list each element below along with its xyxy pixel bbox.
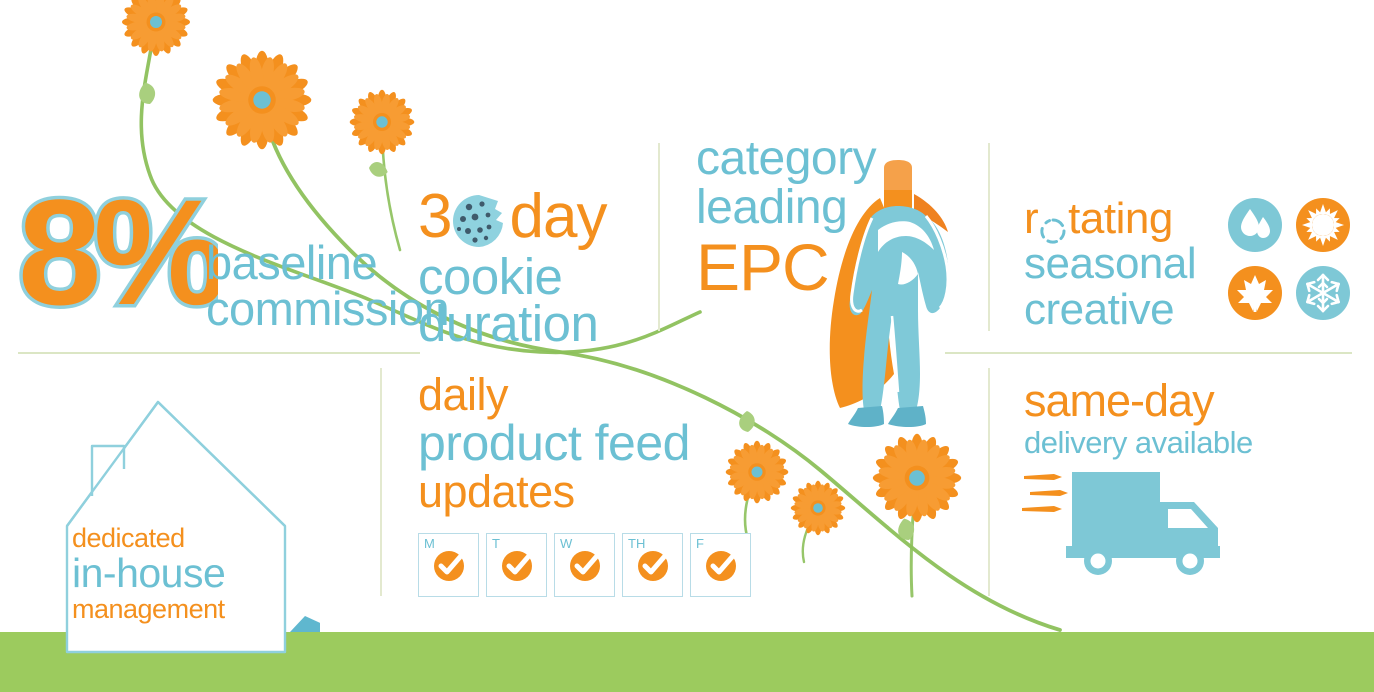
check-icon (704, 549, 738, 583)
management-line-2: in-house (72, 552, 292, 595)
leaf-icon (1228, 266, 1282, 320)
delivery-stat-block: same-day delivery available (1024, 378, 1253, 461)
water-drop-icon (1228, 198, 1282, 252)
cookie-prefix: 3 (418, 186, 451, 248)
divider-vertical-delivery-left (988, 368, 990, 596)
seasonal-line-1: r tating (1024, 196, 1196, 241)
feed-stat-block: daily product feed updates (418, 372, 690, 516)
feed-line-3: updates (418, 469, 690, 516)
divider-vertical-epc-left (658, 143, 660, 331)
cookie-icon (451, 193, 507, 249)
cookie-suffix: day (509, 186, 606, 248)
weekday-card-thursday[interactable]: TH (622, 533, 683, 597)
commission-value: 8% 8% (18, 186, 218, 336)
delivery-truck-icon (1018, 466, 1246, 576)
check-icon (636, 549, 670, 583)
commission-line-1: baseline (206, 240, 449, 286)
feed-line-2: product feed (418, 418, 690, 469)
management-line-3: management (72, 595, 292, 624)
seasonal-stat-block: r tating seasonal creative (1024, 196, 1196, 333)
divider-vertical-feed-left (380, 368, 382, 596)
weekday-card-monday[interactable]: M (418, 533, 479, 597)
management-line-1: dedicated (72, 524, 292, 552)
divider-vertical-epc-right (988, 143, 990, 331)
feed-line-1: daily (418, 372, 690, 418)
delivery-line-2: delivery available (1024, 424, 1253, 461)
commission-value-fill: 8% (18, 186, 218, 336)
divider-horizontal-right (945, 352, 1352, 354)
commission-stat-block: 8% 8% baseline commission (18, 186, 218, 341)
weekday-card-row: M T W (418, 533, 751, 597)
rotating-circle-icon (1039, 208, 1067, 236)
divider-horizontal-left (18, 352, 420, 354)
cookie-line-2: duration (418, 301, 606, 348)
check-icon (432, 549, 466, 583)
infographic-canvas: dedicated in-house management 8% 8% base… (0, 0, 1374, 692)
cookie-stat-block: 3 (418, 186, 606, 348)
check-icon (568, 549, 602, 583)
seasonal-line-2: seasonal (1024, 241, 1196, 287)
check-icon (500, 549, 534, 583)
snowflake-icon (1296, 266, 1350, 320)
commission-line-2: commission (206, 286, 449, 332)
weekday-card-friday[interactable]: F (690, 533, 751, 597)
seasonal-line-3: creative (1024, 287, 1196, 333)
sun-icon (1296, 198, 1350, 252)
weekday-card-tuesday[interactable]: T (486, 533, 547, 597)
cookie-line-1: cookie (418, 254, 606, 301)
cookie-subtext: cookie duration (418, 254, 606, 348)
seasonal-line-1-prefix: r (1024, 196, 1038, 241)
commission-subtext: baseline commission (206, 240, 449, 331)
management-text-block: dedicated in-house management (72, 524, 292, 625)
delivery-line-1: same-day (1024, 378, 1253, 424)
seasonal-line-1-suffix: tating (1068, 196, 1173, 241)
weekday-card-wednesday[interactable]: W (554, 533, 615, 597)
superhero-icon (828, 160, 978, 430)
season-icon-grid (1228, 198, 1352, 322)
cookie-headline: 3 (418, 186, 606, 248)
